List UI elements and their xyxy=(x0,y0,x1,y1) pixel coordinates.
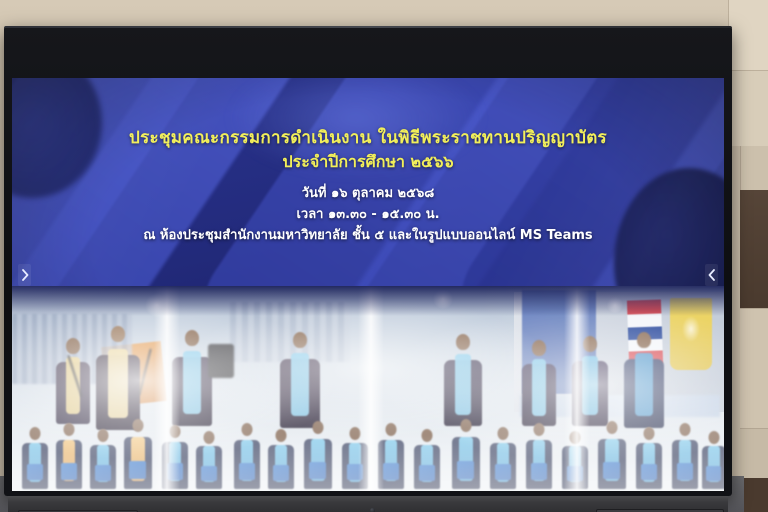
ceremony-figure xyxy=(624,332,664,428)
graduate xyxy=(526,423,552,489)
ceremony-figure xyxy=(280,332,320,428)
wall-tile xyxy=(740,428,768,478)
slide-prev-button[interactable] xyxy=(18,264,31,286)
graduate xyxy=(124,419,152,489)
chevron-right-icon xyxy=(21,269,29,281)
presentation-slide[interactable]: ประชุมคณะกรรมการดำเนินงาน ในพิธีพระราชทา… xyxy=(12,78,724,491)
royal-flag xyxy=(670,298,712,370)
graduate xyxy=(672,423,698,489)
camera xyxy=(208,344,234,378)
ceremony-figure xyxy=(96,326,140,430)
slide-title-line1: ประชุมคณะกรรมการดำเนินงาน ในพิธีพระราชทา… xyxy=(12,126,724,150)
ir-sensor xyxy=(370,508,375,512)
sparkle xyxy=(144,292,170,318)
collage-seam xyxy=(564,286,590,491)
graduate xyxy=(304,421,332,489)
chevron-left-icon xyxy=(708,269,716,281)
slide-time-line: เวลา ๑๓.๓๐ - ๑๕.๓๐ น. xyxy=(12,204,724,225)
slide-title-line2: ประจำปีการศึกษา ๒๕๖๖ xyxy=(12,150,724,174)
sparkle xyxy=(432,288,454,310)
collage-seam xyxy=(358,286,384,491)
benq-display: ประชุมคณะกรรมการดำเนินงาน ในพิธีพระราชทา… xyxy=(0,26,740,512)
sparkle xyxy=(606,296,624,314)
display-screen[interactable]: ประชุมคณะกรรมการดำเนินงาน ในพิธีพระราชทา… xyxy=(12,78,724,491)
graduation-photo-collage: ภาพพิธีพระราชทานปริญญาบัตร xyxy=(12,286,724,491)
slide-venue-line: ณ ห้องประชุมสำนักงานมหาวิทยาลัย ชั้น ๕ แ… xyxy=(12,226,724,247)
graduate xyxy=(234,423,260,489)
bezel-top-highlight xyxy=(4,26,732,28)
graduate xyxy=(414,429,440,489)
graduate xyxy=(196,431,222,489)
ceremony-figure xyxy=(444,334,482,426)
ceremony-figure xyxy=(56,338,90,424)
ceremony-figure xyxy=(522,340,556,426)
slide-date-line: วันที่ ๑๖ ตุลาคม ๒๕๖๘ xyxy=(12,183,724,204)
wall-tile xyxy=(740,308,768,428)
graduate xyxy=(268,429,294,489)
wall-tile-dark xyxy=(740,190,768,308)
graduate xyxy=(22,427,48,489)
wall-tile-dark xyxy=(740,478,768,512)
graduate xyxy=(598,421,626,489)
graduate xyxy=(636,427,662,489)
graduate xyxy=(702,431,724,489)
slide-text-block: ประชุมคณะกรรมการดำเนินงาน ในพิธีพระราชทา… xyxy=(12,126,724,247)
graduate xyxy=(56,423,82,489)
graduate xyxy=(90,429,116,489)
graduate xyxy=(490,427,516,489)
graduate xyxy=(452,419,480,489)
slide-next-button[interactable] xyxy=(705,264,718,286)
